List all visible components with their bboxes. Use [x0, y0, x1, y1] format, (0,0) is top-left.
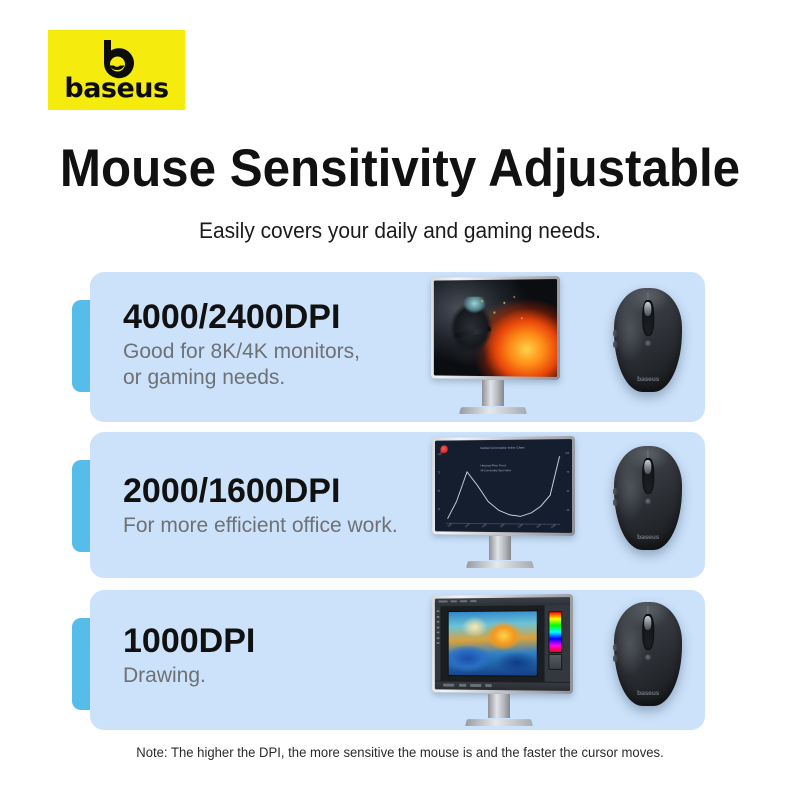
chart-title: Global Commodity Index Chart	[435, 445, 572, 450]
color-swatch-panel	[548, 654, 562, 670]
monitor-bezel	[431, 276, 560, 380]
dpi-value: 2000/1600DPI	[123, 472, 398, 510]
mouse-side-button	[613, 499, 618, 506]
dpi-description-line: Good for 8K/4K monitors,	[123, 339, 360, 365]
mouse-scroll-wheel	[644, 302, 651, 316]
wireless-mouse: baseus	[614, 602, 682, 706]
mouse-dpi-button	[645, 498, 652, 505]
monitor-screen	[434, 279, 557, 377]
color-spectrum-picker	[548, 611, 562, 653]
analytics-chart-image: Global Commodity Index Chart Historical …	[435, 439, 572, 533]
game-scene-image	[434, 279, 557, 377]
mouse-brand-logo: baseus	[637, 535, 659, 541]
dpi-description-line: Drawing.	[123, 663, 255, 689]
dpi-description-line: or gaming needs.	[123, 365, 360, 391]
baseus-wordmark: baseus	[48, 75, 185, 102]
photo-editor-image	[435, 597, 570, 691]
monitor-screen	[435, 597, 570, 691]
mouse-dpi-button	[645, 340, 652, 347]
monitor-base	[465, 719, 533, 726]
monitor-bezel	[432, 594, 573, 694]
mouse-scroll-wheel	[644, 460, 651, 474]
baseus-logo: baseus	[48, 30, 185, 110]
monitor-bezel: Global Commodity Index Chart Historical …	[432, 436, 575, 536]
monitor-neck	[482, 380, 504, 406]
monitor-base	[459, 407, 527, 414]
mouse-body: baseus	[614, 288, 682, 392]
mouse-body: baseus	[614, 446, 682, 550]
page-subtitle: Easily covers your daily and gaming need…	[20, 218, 780, 244]
monitor-neck	[489, 536, 511, 560]
monitor-drawing	[425, 594, 573, 730]
editor-status-bar	[435, 680, 570, 691]
mouse-body: baseus	[614, 602, 682, 706]
wireless-mouse: baseus	[614, 446, 682, 550]
artwork-painting	[449, 611, 537, 676]
mouse-dpi-button	[645, 654, 652, 661]
card-accent-tab	[72, 460, 98, 552]
monitor-base	[466, 561, 534, 568]
card-accent-tab	[72, 300, 98, 392]
footer-note: Note: The higher the DPI, the more sensi…	[12, 745, 788, 760]
editor-right-panel	[544, 605, 570, 683]
monitor-screen: Global Commodity Index Chart Historical …	[435, 439, 572, 533]
mouse-side-button	[613, 644, 618, 651]
mouse-scroll-wheel	[644, 616, 651, 630]
monitor-office: Global Commodity Index Chart Historical …	[425, 436, 575, 574]
card-accent-tab	[72, 618, 98, 710]
monitor-neck	[488, 694, 510, 718]
chart-plot-line	[446, 450, 561, 524]
feature-card-1000dpi: 1000DPI Drawing.	[90, 590, 705, 730]
mouse-brand-logo: baseus	[637, 377, 659, 383]
feature-card-2000-1600dpi: 2000/1600DPI For more efficient office w…	[90, 432, 705, 578]
editor-canvas-area	[441, 605, 545, 682]
wireless-mouse: baseus	[614, 288, 682, 392]
dpi-value: 1000DPI	[123, 622, 255, 660]
mouse-side-button	[613, 655, 618, 662]
mouse-side-button	[613, 341, 618, 348]
dpi-description-line: For more efficient office work.	[123, 513, 398, 539]
dpi-value: 4000/2400DPI	[123, 298, 360, 336]
game-sparks	[434, 279, 557, 377]
mouse-brand-logo: baseus	[637, 691, 659, 697]
monitor-gaming	[425, 276, 560, 416]
feature-card-4000-2400dpi: 4000/2400DPI Good for 8K/4K monitors, or…	[90, 272, 705, 422]
page-title: Mouse Sensitivity Adjustable	[28, 142, 772, 195]
mouse-side-button	[613, 488, 618, 495]
mouse-side-button	[613, 330, 618, 337]
